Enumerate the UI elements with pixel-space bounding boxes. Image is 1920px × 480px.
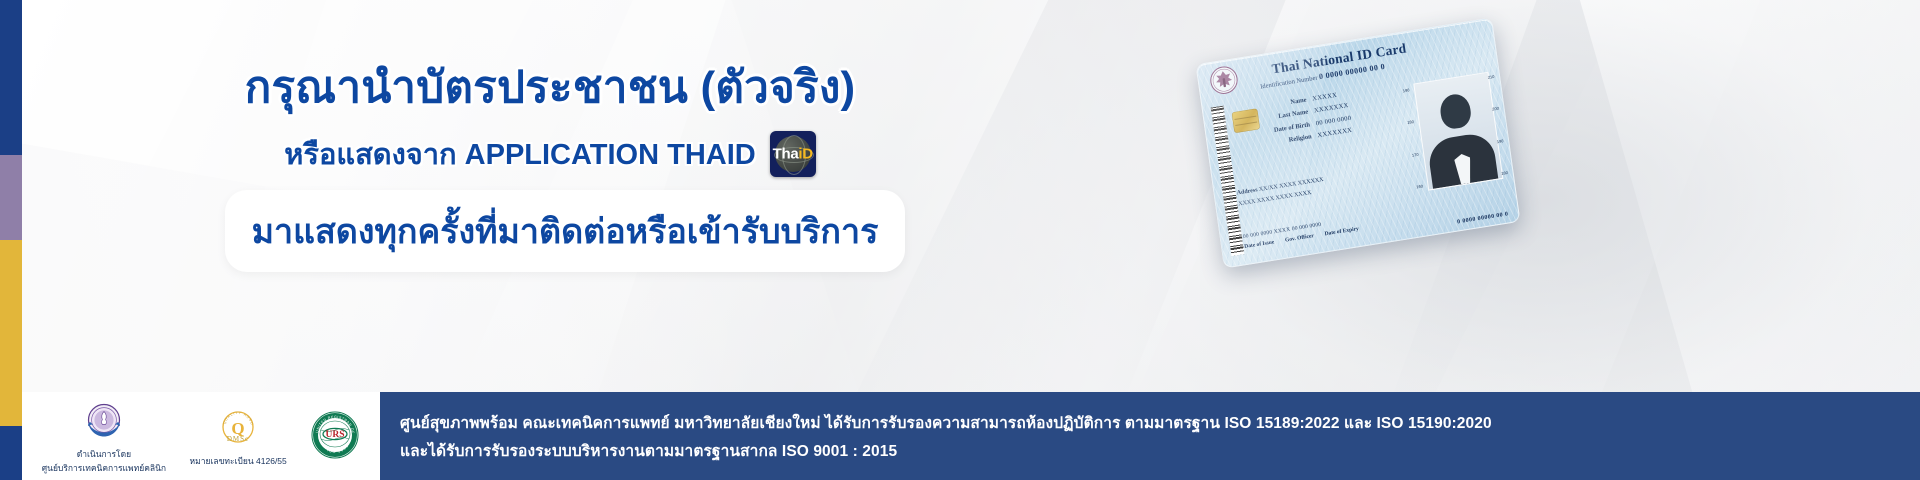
ruler-tick: 210 xyxy=(1487,74,1494,80)
dmsc-logo-block: Q DMSc QUALITY ASSURANCE หมายเลขทะเบียน … xyxy=(190,407,287,468)
svg-text:URS: URS xyxy=(326,430,345,440)
ruler-tick: 170 xyxy=(1411,151,1418,157)
cmu-seal-icon xyxy=(82,400,126,444)
urs-logo-block: URS UNITED REGISTRAR OF SYSTEMS ISO 9001 xyxy=(310,410,360,463)
accreditation-logos: ดำเนินการโดย ศูนย์บริการเทคนิคการแพทย์คล… xyxy=(22,392,380,480)
stripe-gold xyxy=(0,240,22,392)
ruler-tick: 180 xyxy=(1407,119,1414,125)
headline-secondary: หรือแสดงจาก APPLICATION THAID xyxy=(284,131,755,177)
date-of-issue-label: Date of Issue xyxy=(1244,238,1275,252)
ruler-tick: 180 xyxy=(1501,170,1508,176)
stripe-navy xyxy=(0,0,22,155)
callout-pill: มาแสดงทุกครั้งที่มาติดต่อหรือเข้ารับบริก… xyxy=(225,190,905,272)
footer-line-2: และได้รับการรับรองระบบบริหารงานตามมาตรฐา… xyxy=(400,438,1920,463)
stripe-purple xyxy=(0,155,22,240)
garuda-emblem-icon xyxy=(1207,63,1241,101)
ruler-tick: 200 xyxy=(1492,106,1499,112)
field-label: Date of Birth xyxy=(1264,119,1311,138)
id-card-notice-banner: กรุณานำบัตรประชาชน (ตัวจริง) หรือแสดงจาก… xyxy=(0,0,1920,480)
dmsc-quality-seal-icon: Q DMSc QUALITY ASSURANCE xyxy=(216,407,260,451)
id-card-illustration: Thai National ID Card Identification Num… xyxy=(1180,14,1600,314)
footer-stripe-gold xyxy=(0,392,22,426)
barcode-icon xyxy=(1211,106,1245,257)
card-id-label: Identification Number xyxy=(1260,75,1318,91)
field-label: Religion xyxy=(1265,131,1312,150)
ruler-tick: 190 xyxy=(1402,87,1409,93)
left-accent-stripes xyxy=(0,0,22,392)
field-label: Name xyxy=(1260,95,1307,114)
footer-bar: ดำเนินการโดย ศูนย์บริการเทคนิคการแพทย์คล… xyxy=(0,392,1920,480)
cmu-caption-line2: ศูนย์บริการเทคนิคการแพทย์คลินิก xyxy=(42,463,166,474)
thaid-app-icon[interactable]: ThaiD xyxy=(770,131,816,177)
footer-stripe-navy xyxy=(0,426,22,480)
address-label: Address xyxy=(1236,187,1257,196)
dmsc-caption-line1: หมายเลขทะเบียน 4126/55 xyxy=(190,456,287,467)
cmu-logo-block: ดำเนินการโดย ศูนย์บริการเทคนิคการแพทย์คล… xyxy=(42,400,166,474)
footer-line-1: ศูนย์สุขภาพพร้อม คณะเทคนิคการแพทย์ มหาวิ… xyxy=(400,410,1920,435)
thaid-label-gold: iD xyxy=(798,146,812,163)
field-label: Last Name xyxy=(1262,107,1309,126)
smartcard-chip-icon xyxy=(1232,108,1261,133)
svg-text:DMSc: DMSc xyxy=(227,435,249,443)
headline-secondary-row: หรือแสดงจาก APPLICATION THAID ThaiD xyxy=(0,131,1100,177)
urs-iso9001-seal-icon: URS UNITED REGISTRAR OF SYSTEMS ISO 9001 xyxy=(310,410,360,460)
portrait-head xyxy=(1438,92,1472,130)
headline-primary: กรุณานำบัตรประชาชน (ตัวจริง) xyxy=(0,52,1100,122)
ruler-tick: 160 xyxy=(1416,183,1423,189)
cmu-caption-line1: ดำเนินการโดย xyxy=(42,449,166,460)
callout-pill-text: มาแสดงทุกครั้งที่มาติดต่อหรือเข้ารับบริก… xyxy=(252,204,879,258)
footer-accreditation-text: ศูนย์สุขภาพพร้อม คณะเทคนิคการแพทย์ มหาวิ… xyxy=(380,392,1920,480)
ruler-tick: 190 xyxy=(1496,138,1503,144)
headline-block: กรุณานำบัตรประชาชน (ตัวจริง) หรือแสดงจาก… xyxy=(0,52,1100,177)
thaid-label-white: Tha xyxy=(773,146,799,163)
thai-national-id-card: Thai National ID Card Identification Num… xyxy=(1196,18,1521,269)
thaid-icon-label: ThaiD xyxy=(770,147,816,162)
footer-left-stripes xyxy=(0,392,22,480)
